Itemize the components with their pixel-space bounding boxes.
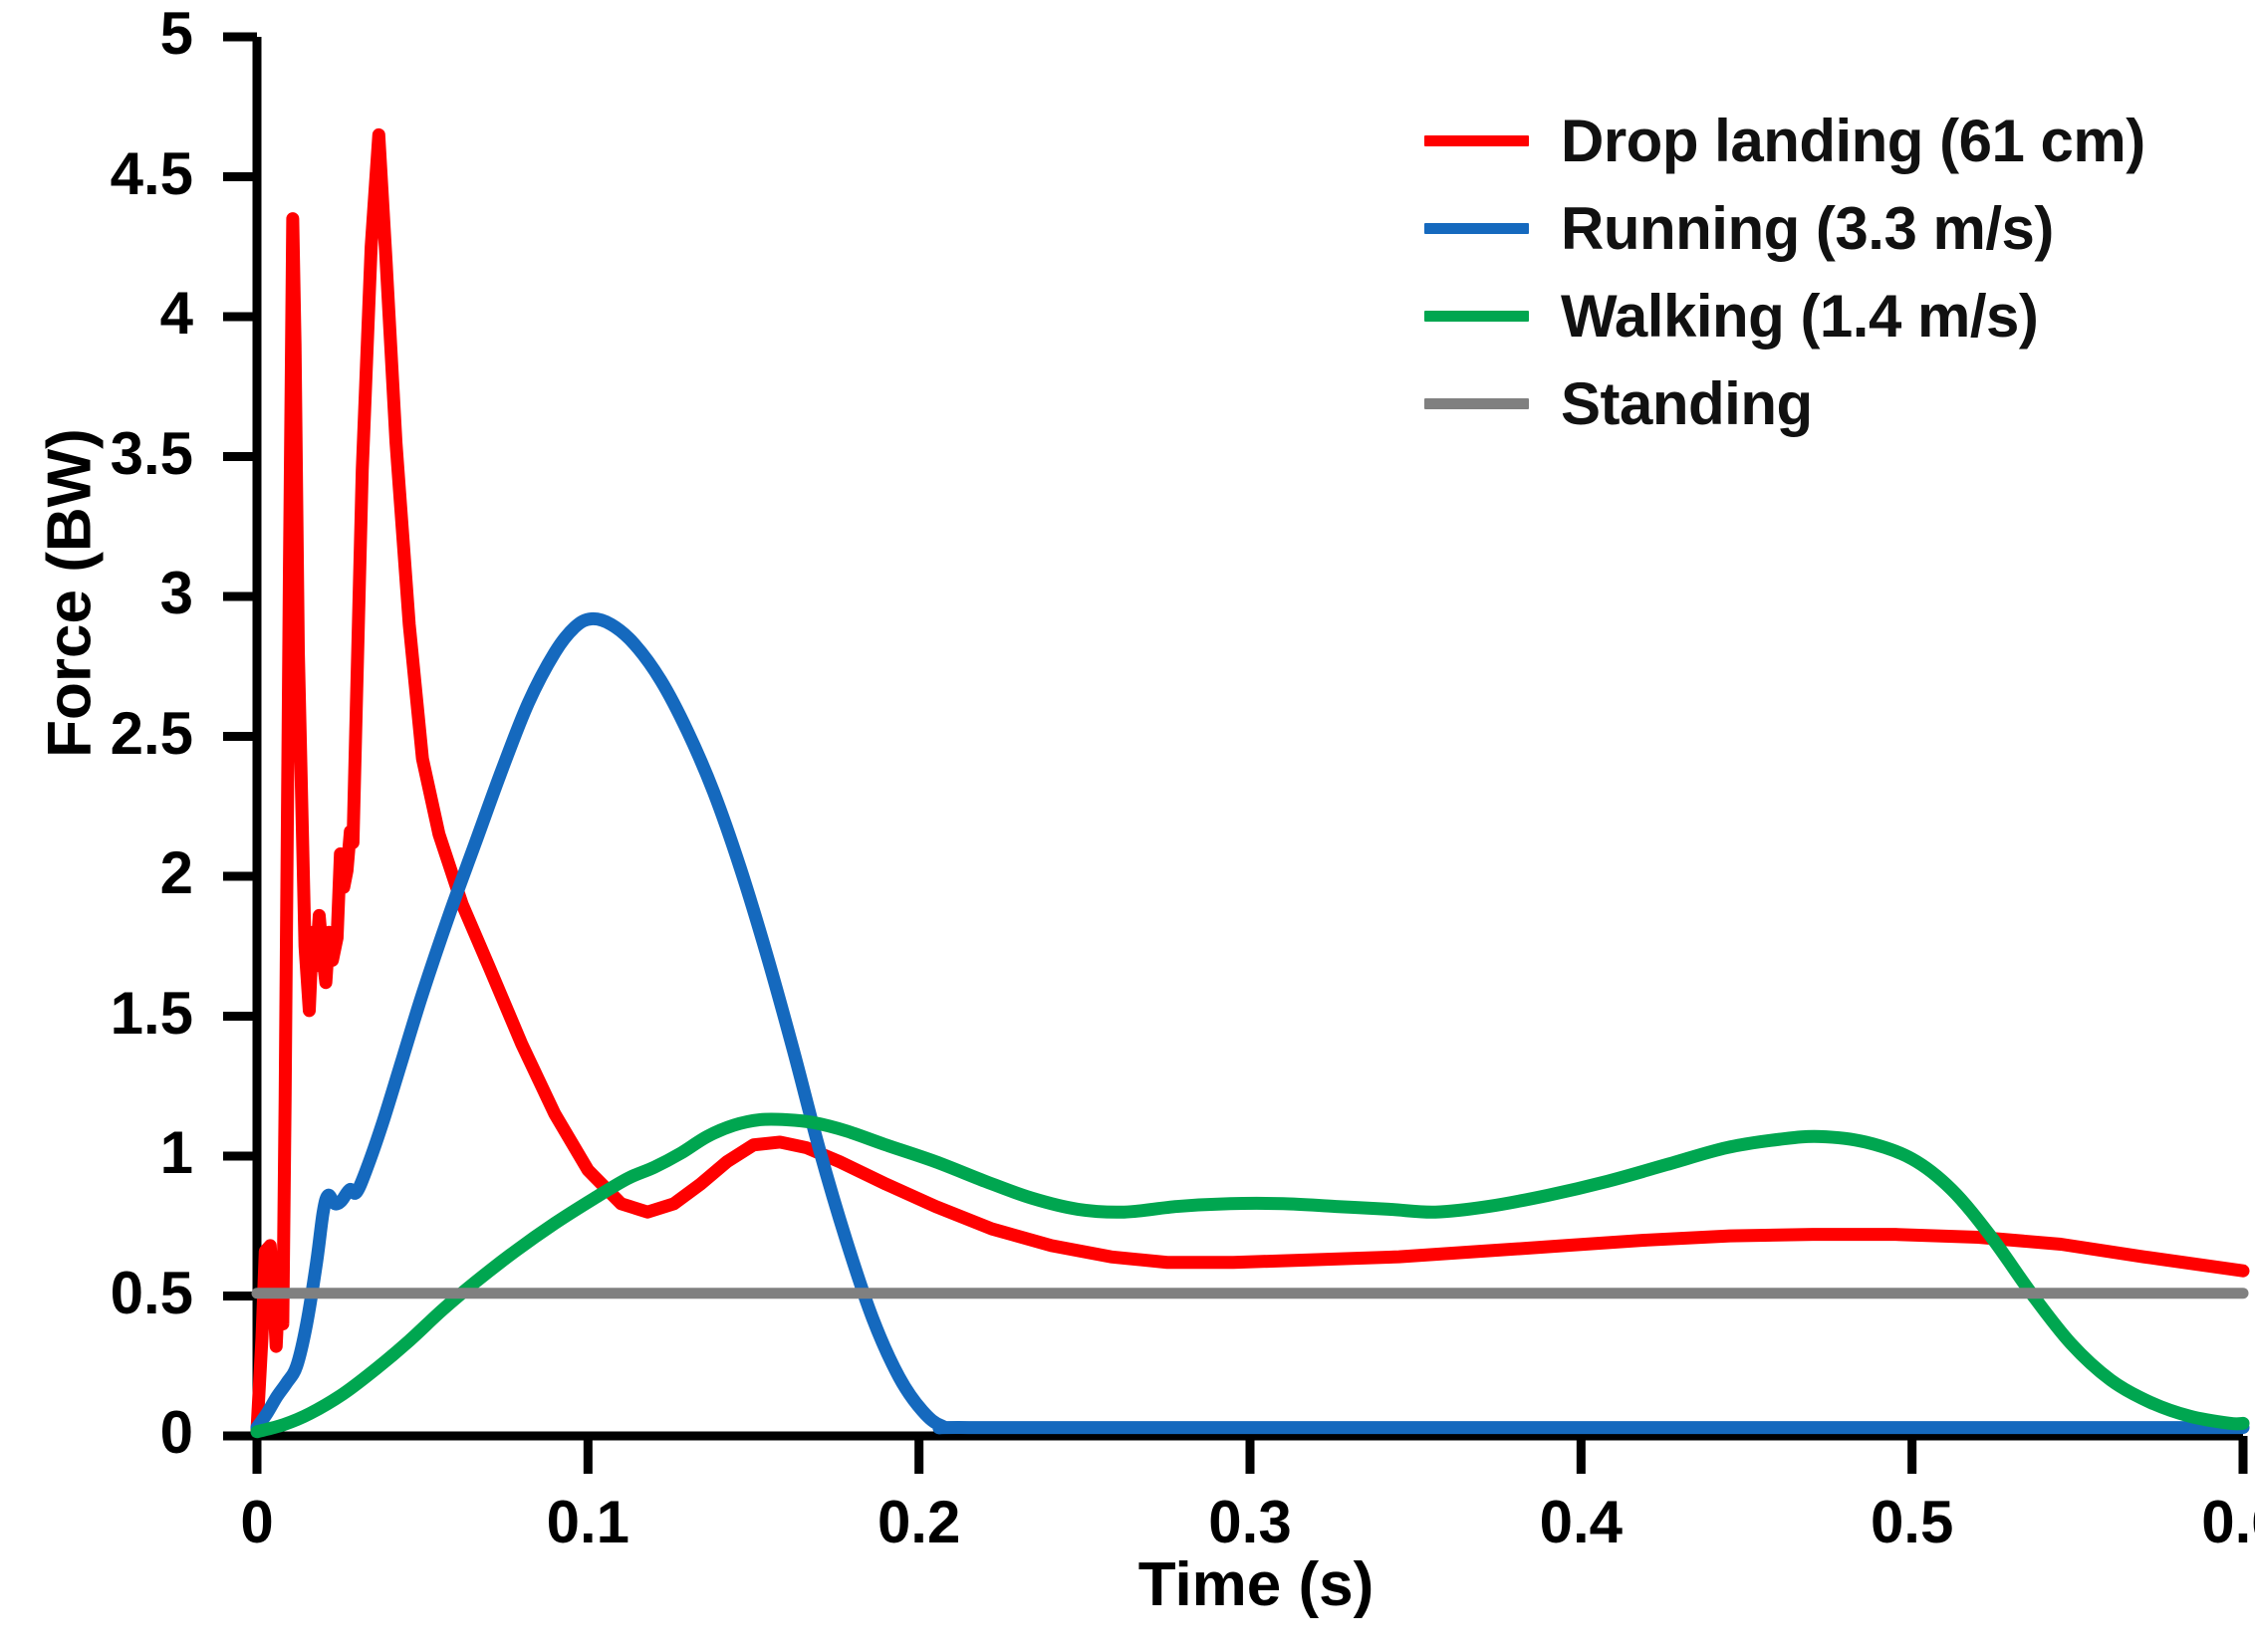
y-tick-label-10: 0 <box>0 1398 193 1467</box>
legend-label-walking: Walking (1.4 m/s) <box>1561 282 2038 351</box>
legend-label-standing: Standing <box>1561 369 1813 438</box>
y-tick-label-3: 3.5 <box>0 419 193 488</box>
x-tick-label-6: 0.6 <box>2153 1488 2255 1556</box>
y-tick-label-9: 0.5 <box>0 1259 193 1327</box>
chart-legend: Drop landing (61 cm) Running (3.3 m/s) W… <box>1424 110 2145 434</box>
y-tick-label-2: 4 <box>0 279 193 348</box>
y-tick-label-5: 2.5 <box>0 699 193 768</box>
x-tick-label-2: 0.2 <box>830 1488 1009 1556</box>
legend-swatch-drop-landing <box>1424 135 1529 146</box>
legend-item-running[interactable]: Running (3.3 m/s) <box>1424 197 2145 259</box>
legend-item-standing[interactable]: Standing <box>1424 372 2145 434</box>
x-tick-label-5: 0.5 <box>1823 1488 2002 1556</box>
y-tick-label-6: 2 <box>0 838 193 907</box>
y-tick-label-7: 1.5 <box>0 979 193 1048</box>
x-tick-label-1: 0.1 <box>498 1488 677 1556</box>
legend-item-walking[interactable]: Walking (1.4 m/s) <box>1424 285 2145 347</box>
legend-swatch-walking <box>1424 311 1529 322</box>
y-tick-label-8: 1 <box>0 1118 193 1187</box>
legend-label-drop-landing: Drop landing (61 cm) <box>1561 107 2145 175</box>
y-tick-label-1: 4.5 <box>0 139 193 208</box>
series-line-running <box>257 618 2243 1427</box>
y-tick-label-4: 3 <box>0 559 193 627</box>
x-tick-label-4: 0.4 <box>1491 1488 1670 1556</box>
force-time-chart: Force (BW) Time (s) 54.543.532.521.510.5… <box>0 0 2255 1652</box>
y-tick-label-0: 5 <box>0 0 193 68</box>
x-axis-title: Time (s) <box>257 1549 2255 1620</box>
legend-item-drop-landing[interactable]: Drop landing (61 cm) <box>1424 110 2145 171</box>
legend-swatch-standing <box>1424 398 1529 409</box>
x-tick-label-3: 0.3 <box>1160 1488 1340 1556</box>
legend-swatch-running <box>1424 223 1529 234</box>
series-line-walking <box>257 1119 2243 1432</box>
x-tick-label-0: 0 <box>167 1488 347 1556</box>
legend-label-running: Running (3.3 m/s) <box>1561 194 2054 263</box>
